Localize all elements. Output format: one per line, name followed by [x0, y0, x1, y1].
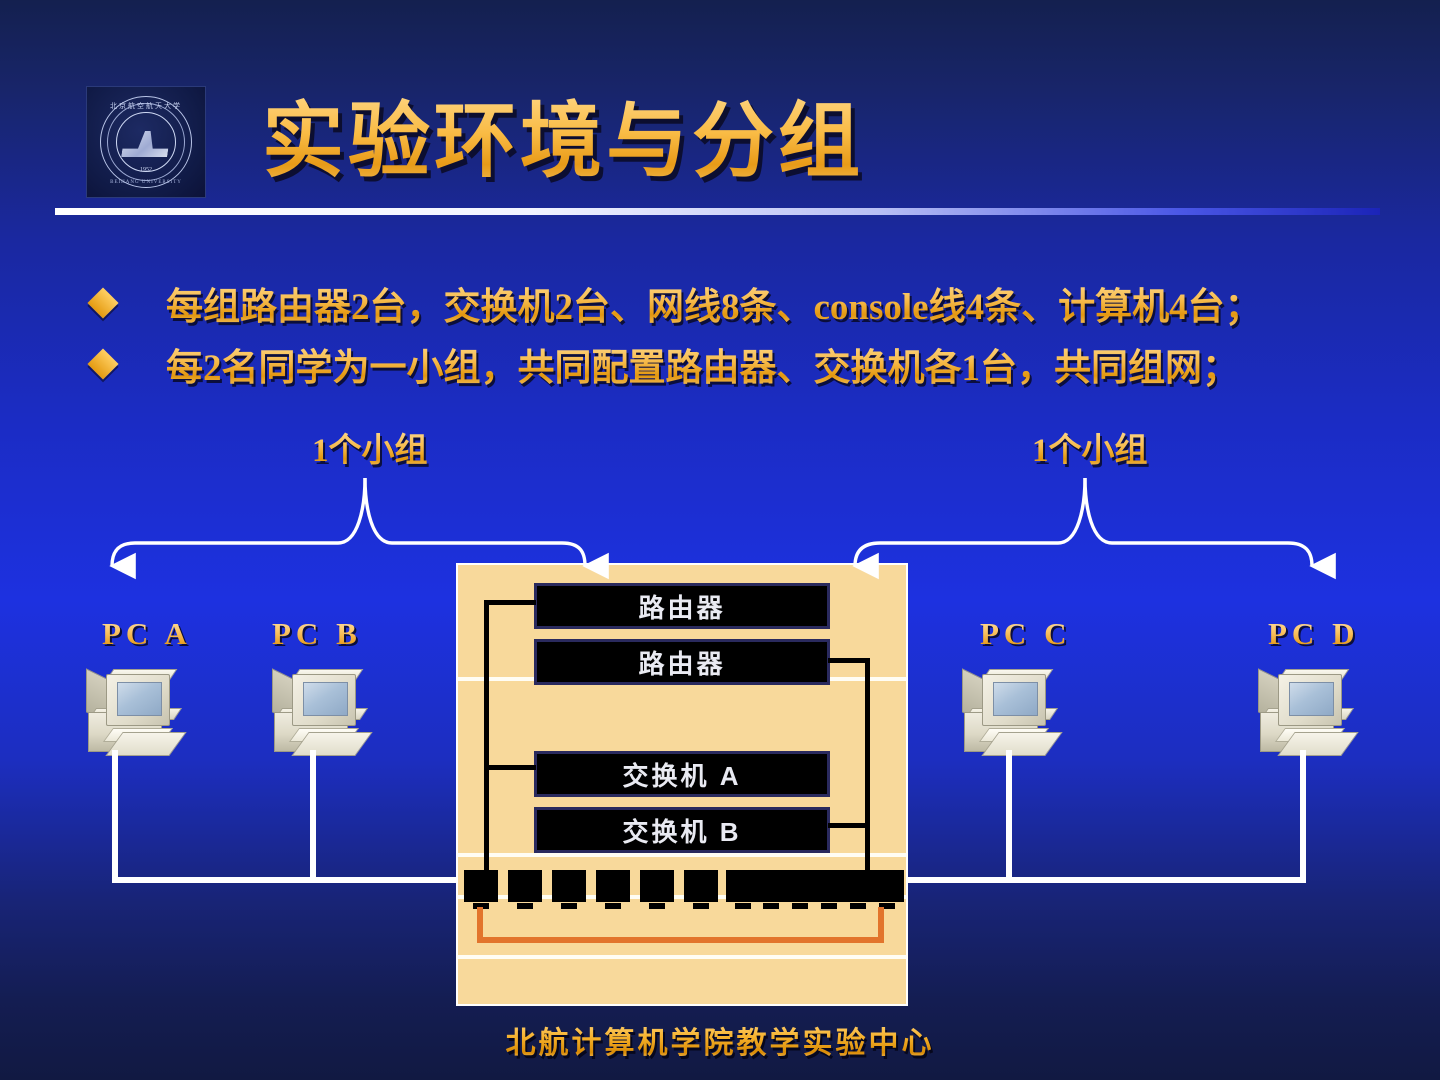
- page-title: 实验环境与分组: [262, 86, 962, 198]
- bullet-item-2: 每2名同学为一小组，共同配置路由器、交换机各1台，共同组网；: [92, 337, 1239, 391]
- port-tab: [763, 903, 779, 909]
- bullet-text-2: 每2名同学为一小组，共同配置路由器、交换机各1台，共同组网；: [166, 337, 1239, 391]
- patch-port-left-1[interactable]: [464, 870, 498, 902]
- rack-shelf-2: [458, 853, 906, 857]
- orange-patch-right-leg: [878, 907, 884, 943]
- monitor-screen: [993, 682, 1038, 716]
- port-tab: [821, 903, 837, 909]
- cable-pc-d-vertical: [1300, 750, 1306, 882]
- cable-pc-b-vertical: [310, 750, 316, 882]
- patch-port-left-5[interactable]: [640, 870, 674, 902]
- rack-cable-switcha-stub: [484, 765, 536, 770]
- monitor-screen: [1289, 682, 1334, 716]
- port-tab: [517, 903, 533, 909]
- port-tab: [735, 903, 751, 909]
- monitor-screen: [303, 682, 348, 716]
- rack-cable-router1-stub: [484, 600, 536, 605]
- cable-pc-a-vertical: [112, 750, 118, 882]
- diamond-bullet-icon: [87, 348, 118, 379]
- pc-a-label: PC A: [102, 616, 192, 652]
- university-logo: 北京航空航天大学 1952 BEIHANG UNIVERSITY: [86, 86, 206, 198]
- patch-port-left-6[interactable]: [684, 870, 718, 902]
- device-router-2[interactable]: 路由器: [534, 639, 830, 685]
- logo-bottom-text: BEIHANG UNIVERSITY: [87, 180, 205, 185]
- cable-pc-a-horizontal: [112, 877, 472, 883]
- group-brace-right: [855, 478, 1312, 566]
- bullet-text-1: 每组路由器2台，交换机2台、网线8条、console线4条、计算机4台；: [166, 276, 1262, 330]
- group-label-right: 1个小组: [1032, 423, 1148, 471]
- diamond-bullet-icon: [87, 287, 118, 318]
- rack-cable-right-trunk: [865, 658, 870, 886]
- device-switch-a[interactable]: 交换机 A: [534, 751, 830, 797]
- logo-top-text: 北京航空航天大学: [87, 101, 205, 111]
- cable-pc-cd-horizontal: [896, 877, 1306, 883]
- rack-cable-left-trunk: [484, 605, 489, 885]
- group-label-left: 1个小组: [312, 423, 428, 471]
- pc-c-icon: [962, 668, 1058, 758]
- group-brace-left: [112, 478, 585, 566]
- patch-port-left-3[interactable]: [552, 870, 586, 902]
- patch-port-left-4[interactable]: [596, 870, 630, 902]
- patch-port-left-2[interactable]: [508, 870, 542, 902]
- equipment-rack: 路由器 路由器 交换机 A 交换机 B: [456, 563, 908, 1006]
- port-tab: [561, 903, 577, 909]
- pc-c-label: PC C: [980, 616, 1071, 652]
- cable-pc-c-vertical: [1006, 750, 1012, 882]
- logo-year-text: 1952: [87, 167, 205, 173]
- pc-b-icon: [272, 668, 368, 758]
- device-router-1[interactable]: 路由器: [534, 583, 830, 629]
- port-tab: [693, 903, 709, 909]
- monitor-screen: [117, 682, 162, 716]
- rack-shelf-4: [458, 955, 906, 959]
- rack-cable-switchb-stub: [828, 823, 870, 828]
- pc-b-label: PC B: [272, 616, 362, 652]
- slide-canvas: 北京航空航天大学 1952 BEIHANG UNIVERSITY 实验环境与分组…: [0, 0, 1440, 1080]
- title-divider: [55, 208, 1380, 215]
- port-tab: [649, 903, 665, 909]
- port-tab: [792, 903, 808, 909]
- orange-patch-span: [477, 937, 884, 943]
- patch-port-right-6[interactable]: [870, 870, 904, 902]
- port-tab: [850, 903, 866, 909]
- footer-text: 北航计算机学院教学实验中心: [0, 1018, 1440, 1062]
- rack-cable-router2-stub: [828, 658, 870, 663]
- pc-d-icon: [1258, 668, 1354, 758]
- pc-d-label: PC D: [1268, 616, 1359, 652]
- device-switch-b[interactable]: 交换机 B: [534, 807, 830, 853]
- port-tab: [605, 903, 621, 909]
- pc-a-icon: [86, 668, 182, 758]
- bullet-item-1: 每组路由器2台，交换机2台、网线8条、console线4条、计算机4台；: [92, 276, 1262, 330]
